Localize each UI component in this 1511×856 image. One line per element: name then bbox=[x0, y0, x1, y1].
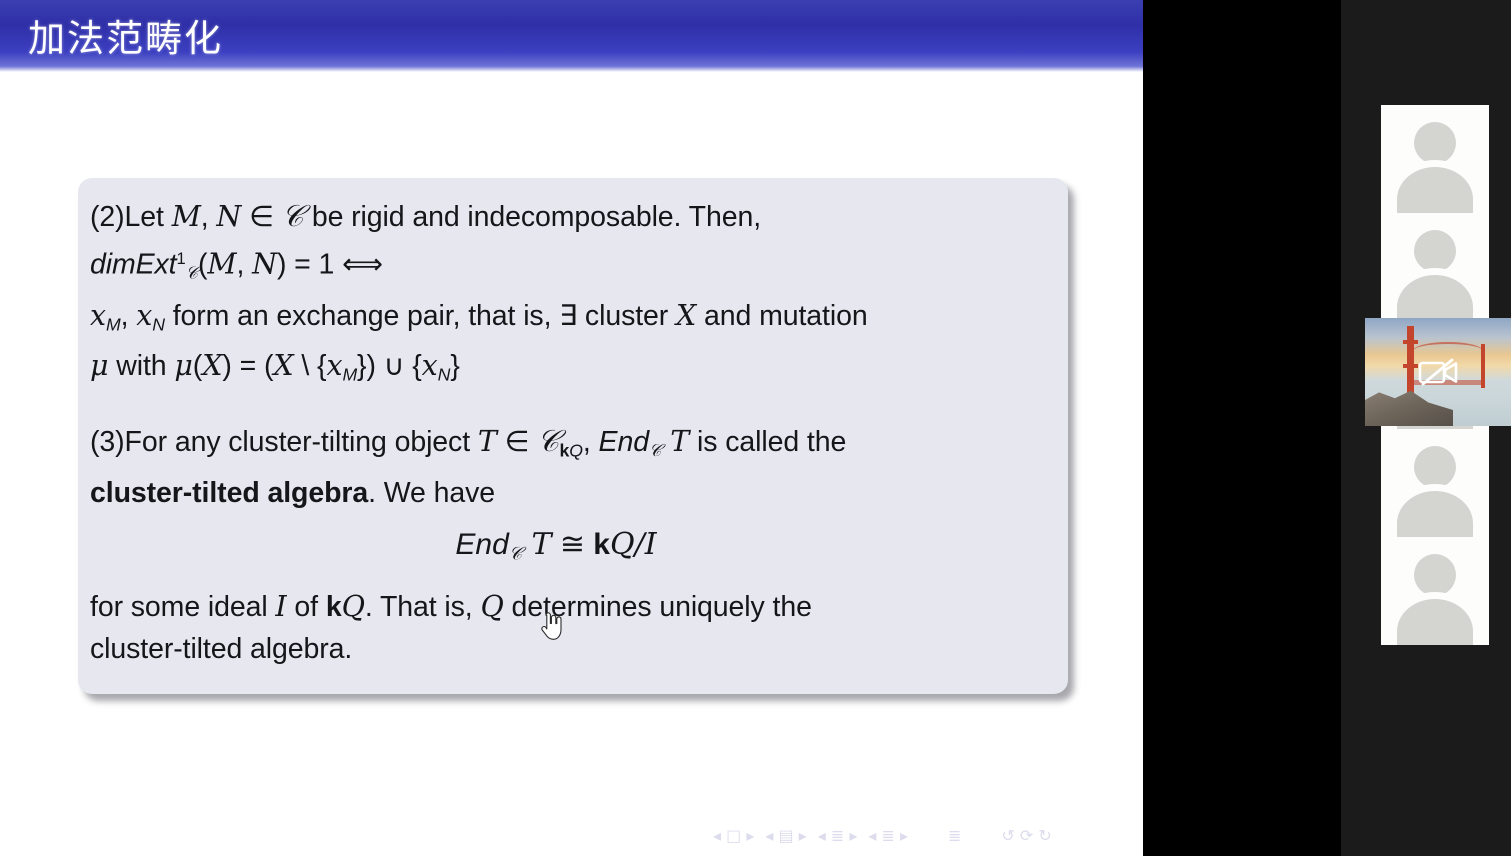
comma-3: , bbox=[121, 300, 137, 332]
subscript-N: N bbox=[152, 314, 165, 334]
symbol-N-2: N bbox=[252, 248, 277, 281]
symbol-x-M: x bbox=[90, 299, 106, 332]
of-text: of bbox=[287, 591, 326, 623]
comma-1: , bbox=[201, 201, 217, 233]
symbol-category-C: 𝒞 bbox=[282, 199, 304, 234]
equals-one-iff: ) = 1 ⟺ bbox=[277, 249, 383, 281]
subscript-M-2: M bbox=[342, 364, 357, 384]
brace-close: } bbox=[450, 350, 459, 382]
participant-tile-3-video[interactable] bbox=[1365, 318, 1511, 426]
nav-frame-icon-2[interactable]: ◂ ≣ ▸ bbox=[868, 826, 908, 845]
paragraph-gap-3 bbox=[90, 576, 1044, 586]
symbol-N: N bbox=[216, 200, 241, 233]
cluster-tilted-algebra-bold: cluster-tilted algebra bbox=[90, 477, 368, 509]
slide-line-3-3: for some ideal I of kQ. That is, Q deter… bbox=[90, 586, 1044, 628]
centered-equation: End𝒞 T ≅ kQ/I bbox=[90, 524, 1044, 575]
element-of-symbol-2: ∈ bbox=[497, 426, 537, 458]
slide-title: 加法范畴化 bbox=[28, 8, 223, 62]
avatar-body-icon bbox=[1397, 167, 1473, 213]
item2-marker: (2) bbox=[90, 201, 125, 233]
item2-line1-a: Let bbox=[125, 201, 172, 233]
avatar-body-icon bbox=[1397, 491, 1473, 537]
symbol-x-N: x bbox=[136, 299, 152, 332]
subscript-k: k bbox=[560, 441, 570, 461]
comma-4: , bbox=[583, 426, 599, 458]
participant-tile-5[interactable] bbox=[1381, 429, 1489, 537]
slide-line-2-3: xM, xN form an exchange pair, that is, ∃… bbox=[90, 295, 1044, 345]
bridge-tower-near-crossbeam-2 bbox=[1403, 364, 1418, 368]
exchange-pair-text: form an exchange pair, that is, ∃ cluste… bbox=[165, 300, 676, 332]
nav-section-icon[interactable]: ◂ □ ▸ bbox=[713, 826, 754, 845]
symbol-Q-2: Q bbox=[480, 590, 503, 623]
is-called-the-text: is called the bbox=[689, 426, 846, 458]
slide-line-3-1: (3)For any cluster-tilting object T ∈ 𝒞k… bbox=[90, 421, 1044, 472]
slide-line-2-2: dimExt1𝒞(M, N) = 1 ⟺ bbox=[90, 238, 1044, 295]
item3-line1-a: For any cluster-tilting object bbox=[125, 426, 478, 458]
dimext-label: dimExt bbox=[90, 249, 177, 281]
symbol-mu-2: μ bbox=[174, 349, 192, 382]
nav-frame-icon-1[interactable]: ◂ ≣ ▸ bbox=[818, 826, 858, 845]
eq-end-subscript: 𝒞 bbox=[509, 544, 522, 565]
symbol-X-1: X bbox=[202, 349, 222, 382]
equals-paren: ) = ( bbox=[222, 350, 273, 382]
paren-open-2: ( bbox=[193, 350, 202, 382]
nav-list-icon[interactable]: ≣ bbox=[948, 826, 961, 845]
eq-symbol-T: T bbox=[522, 527, 552, 562]
end-functor-label: End bbox=[599, 426, 649, 458]
symbol-category-C-2: 𝒞 bbox=[537, 424, 559, 459]
eq-symbol-Q: Q bbox=[610, 527, 635, 562]
subscript-N-2: N bbox=[438, 364, 451, 384]
slide-line-3-4: cluster-tilted algebra. bbox=[90, 628, 1044, 670]
avatar-icon bbox=[1414, 554, 1456, 596]
slide-content-block: (2)Let M, N ∈ 𝒞 be rigid and indecomposa… bbox=[78, 178, 1068, 694]
dimext-subscript: 𝒞 bbox=[186, 264, 198, 284]
symbol-X: X bbox=[676, 299, 696, 332]
beamer-nav-footer[interactable]: ◂ □ ▸ ◂ ▤ ▸ ◂ ≣ ▸ ◂ ≣ ▸ ≣ ↺ ⟳ ↻ bbox=[713, 823, 1133, 847]
camera-off-icon bbox=[1418, 357, 1460, 387]
item3-marker: (3) bbox=[90, 426, 125, 458]
participant-filmstrip[interactable] bbox=[1341, 0, 1511, 856]
paren-open-1: ( bbox=[198, 249, 207, 281]
we-have-text: . We have bbox=[368, 477, 495, 509]
item2-line1-b: be rigid and indecomposable. Then, bbox=[304, 201, 761, 233]
symbol-M: M bbox=[172, 200, 201, 233]
mutation-text: and mutation bbox=[696, 300, 867, 332]
eq-symbol-I: I bbox=[645, 527, 657, 562]
subscript-Q: Q bbox=[569, 441, 583, 461]
setminus-symbol: \ { bbox=[294, 350, 327, 382]
symbol-T-2: T bbox=[661, 425, 689, 458]
paragraph-gap-1 bbox=[90, 395, 1044, 421]
participant-tile-6[interactable] bbox=[1381, 537, 1489, 645]
congruent-symbol: ≅ bbox=[551, 528, 593, 561]
symbol-M-2: M bbox=[207, 248, 236, 281]
shared-slide: 加法范畴化 (2)Let M, N ∈ 𝒞 be rigid and indec… bbox=[0, 0, 1143, 856]
paragraph-gap-2 bbox=[90, 514, 1044, 524]
avatar-icon bbox=[1414, 122, 1456, 164]
slide-line-2-1: (2)Let M, N ∈ 𝒞 be rigid and indecomposa… bbox=[90, 196, 1044, 238]
symbol-x-M-2: x bbox=[326, 349, 342, 382]
end-subscript: 𝒞 bbox=[649, 441, 661, 461]
symbol-X-2: X bbox=[273, 349, 293, 382]
symbol-I: I bbox=[275, 590, 286, 623]
symbol-k: k bbox=[326, 591, 342, 623]
element-of-symbol: ∈ bbox=[241, 201, 281, 233]
determines-uniquely-text: determines uniquely the bbox=[504, 591, 812, 623]
participant-tile-1[interactable] bbox=[1381, 105, 1489, 213]
union-symbol: }) ∪ { bbox=[357, 350, 422, 382]
avatar-icon bbox=[1414, 446, 1456, 488]
nav-subsection-icon[interactable]: ◂ ▤ ▸ bbox=[765, 826, 806, 845]
comma-2: , bbox=[236, 249, 252, 281]
symbol-T: T bbox=[478, 425, 497, 458]
eq-symbol-k: k bbox=[593, 528, 610, 561]
participant-tile-2[interactable] bbox=[1381, 213, 1489, 321]
symbol-mu: μ bbox=[90, 349, 108, 382]
avatar-icon bbox=[1414, 230, 1456, 272]
nav-back-forward-icon[interactable]: ↺ ⟳ ↻ bbox=[1001, 826, 1051, 845]
subscript-M: M bbox=[106, 314, 121, 334]
that-is-text: . That is, bbox=[365, 591, 481, 623]
avatar-body-icon bbox=[1397, 275, 1473, 321]
slide-line-2-4: μ with μ(X) = (X \ {xM}) ∪ {xN} bbox=[90, 345, 1044, 395]
with-text: with bbox=[108, 350, 174, 382]
bridge-tower-near-crossbeam-1 bbox=[1403, 340, 1418, 344]
slide-line-3-2: cluster-tilted algebra. We have bbox=[90, 472, 1044, 514]
avatar-body-icon bbox=[1397, 599, 1473, 645]
dimext-superscript: 1 bbox=[177, 249, 186, 268]
symbol-x-N-2: x bbox=[422, 349, 438, 382]
eq-end-label: End bbox=[455, 528, 508, 561]
zoom-screen-share-window: 加法范畴化 (2)Let M, N ∈ 𝒞 be rigid and indec… bbox=[0, 0, 1511, 856]
for-some-ideal-text: for some ideal bbox=[90, 591, 275, 623]
eq-slash: / bbox=[635, 527, 645, 562]
symbol-Q: Q bbox=[342, 590, 365, 623]
